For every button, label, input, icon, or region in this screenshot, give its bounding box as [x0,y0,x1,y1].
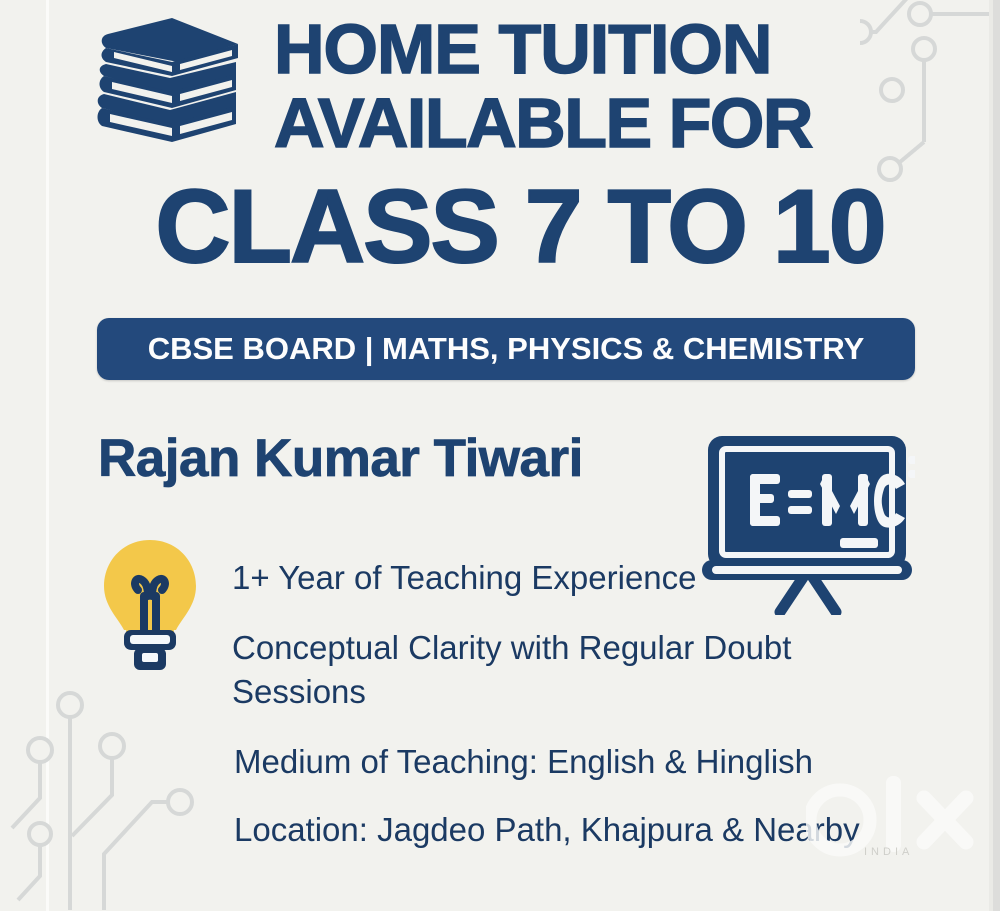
left-edge-strip [46,0,49,911]
tutor-name: Rajan Kumar Tiwari [98,428,583,490]
blackboard-easel-icon [700,430,915,620]
subject-banner-text: CBSE BOARD | MATHS, PHYSICS & CHEMISTRY [148,331,865,367]
headline-line-2: AVAILABLE FOR [274,86,934,160]
feature-item-experience: 1+ Year of Teaching Experience [232,556,697,600]
poster-canvas: HOME TUITION AVAILABLE FOR CLASS 7 TO 10… [0,0,1000,911]
feature-item-medium: Medium of Teaching: English & Hinglish [234,740,813,784]
circuit-decoration-bottom-left [0,650,220,911]
subject-banner: CBSE BOARD | MATHS, PHYSICS & CHEMISTRY [97,318,915,380]
olx-watermark-region: INDIA [864,846,913,858]
books-stack-icon [86,14,254,169]
headline-line-1: HOME TUITION [274,12,934,86]
feature-item-clarity: Conceptual Clarity with Regular Doubt Se… [232,626,832,714]
headline-class-range: CLASS 7 TO 10 [90,172,950,282]
right-edge-strip [993,0,1000,911]
feature-item-location: Location: Jagdeo Path, Khajpura & Nearby [234,808,860,852]
lightbulb-icon [98,538,202,679]
